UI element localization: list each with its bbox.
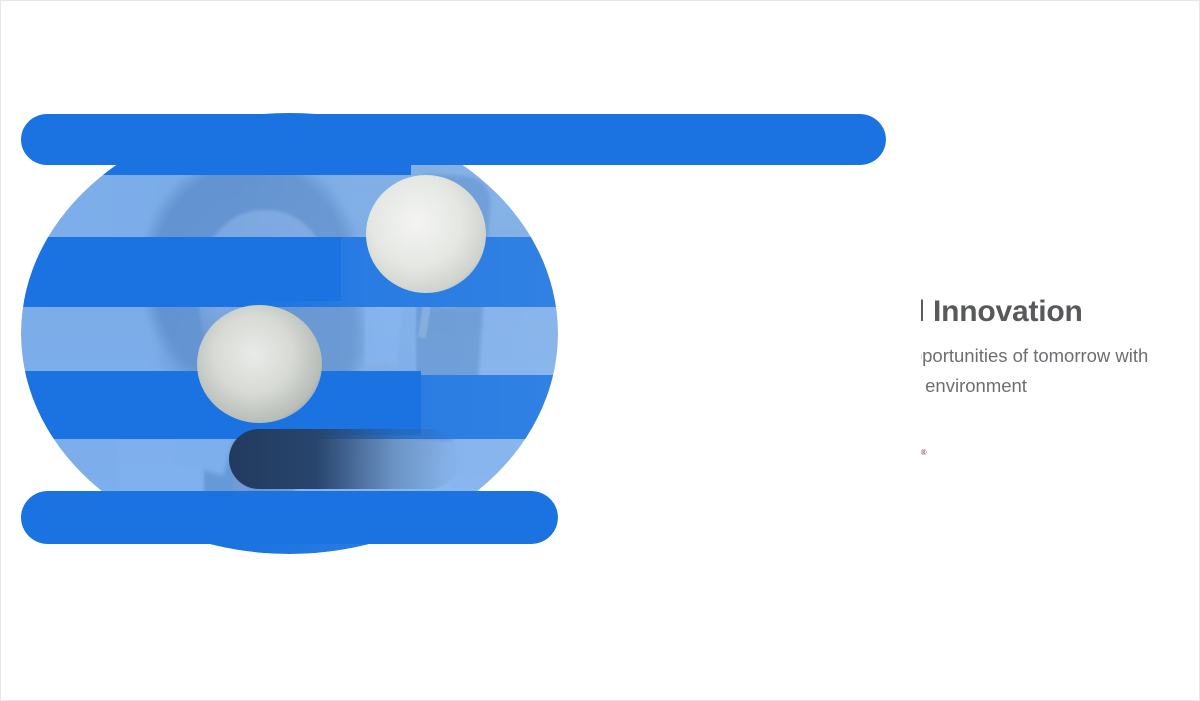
sas-letters <box>631 456 720 480</box>
top-arm-bar <box>21 114 886 165</box>
logo-row: Circulants® <box>593 429 1178 501</box>
crossbar-connector <box>21 165 411 175</box>
page-title: Accelerate Clinical Trial Innovation <box>593 295 1178 329</box>
circulants-initial: C <box>830 450 847 479</box>
page-subtitle: Meet the challenges of today and the opp… <box>593 341 1159 401</box>
node-bottom-right <box>854 489 865 500</box>
photo-punch-mid <box>197 305 322 423</box>
circulants-wordmark-rest: irculants <box>847 454 920 478</box>
sas-wordmark-icon <box>593 440 735 490</box>
crossbar-upper <box>21 237 341 301</box>
logo-divider <box>769 441 770 489</box>
node-top-left <box>821 431 832 442</box>
circulants-logo[interactable]: Circulants® <box>800 429 928 501</box>
sas-swirl-icon <box>598 445 629 484</box>
node-left <box>805 460 816 471</box>
slide-canvas: Accelerate Clinical Trial Innovation Mee… <box>0 0 1200 701</box>
content-column: Accelerate Clinical Trial Innovation Mee… <box>593 295 1178 501</box>
circulants-wordmark: Circulants® <box>830 450 921 480</box>
photo-punch-top <box>366 175 486 293</box>
sas-logo[interactable] <box>593 437 735 493</box>
bottom-arm-bar <box>21 491 558 544</box>
node-top-right <box>854 431 865 442</box>
registered-mark: ® <box>921 448 927 457</box>
node-bottom-left <box>821 489 832 500</box>
navy-pill <box>229 429 459 489</box>
